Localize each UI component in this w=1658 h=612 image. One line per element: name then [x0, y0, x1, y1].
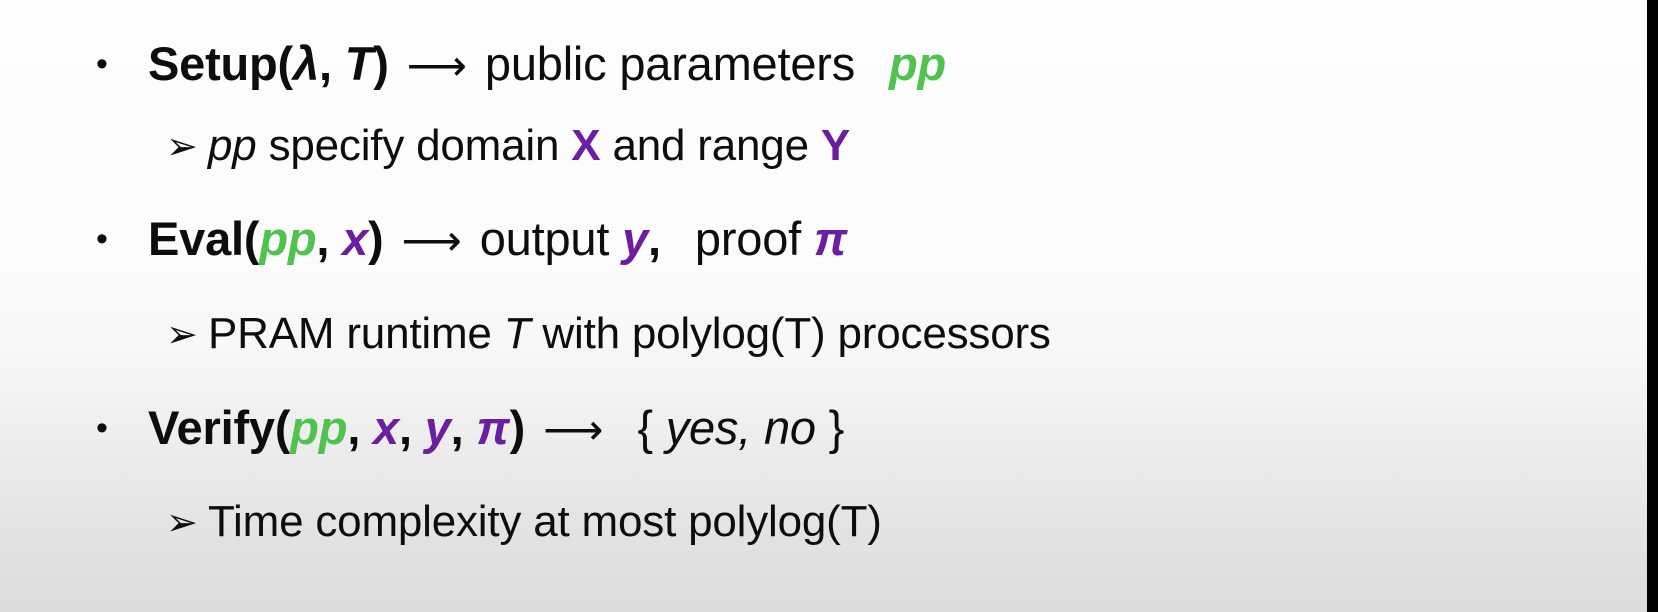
bullet-line-eval: •Eval(pp, x)⟶output y,proof π	[96, 215, 847, 262]
and-range-text: and range	[600, 121, 820, 170]
setup-close-paren: )	[373, 37, 388, 90]
pp-symbol: pp	[889, 37, 946, 90]
pp-symbol: pp	[208, 121, 257, 170]
arrow-icon: ⟶	[407, 41, 467, 90]
bullet-line-eval-body: Eval(pp, x)⟶output y,proof π	[148, 215, 847, 262]
X-symbol: X	[571, 121, 600, 170]
sub-bullet-line-pp-specify-body: pp specify domain X and range Y	[208, 124, 850, 168]
pi-symbol: π	[476, 401, 509, 454]
setup-comma: ,	[319, 37, 345, 90]
sub-bullet-arrow-icon: ➢	[166, 128, 208, 166]
y-symbol: y	[425, 401, 451, 454]
bullet-icon: •	[96, 222, 148, 256]
Y-symbol: Y	[821, 121, 850, 170]
x-symbol: x	[342, 212, 368, 265]
T-symbol: T	[504, 309, 531, 358]
time-complexity-text: Time complexity at most polylog(T)	[208, 497, 882, 546]
bullet-line-verify: •Verify(pp, x, y, π)⟶{ yes, no }	[96, 404, 844, 451]
eval-close-paren: )	[368, 212, 383, 265]
sub-bullet-arrow-icon: ➢	[166, 316, 208, 354]
right-edge-border	[1647, 0, 1658, 612]
proof-text: proof	[695, 212, 814, 265]
y-symbol: y	[622, 212, 648, 265]
verify-close-paren: )	[510, 401, 525, 454]
sub-bullet-line-pram: ➢PRAM runtime T with polylog(T) processo…	[166, 312, 1051, 356]
eval-comma-1: ,	[316, 212, 342, 265]
output-text: output	[480, 212, 622, 265]
pp-symbol: pp	[259, 212, 316, 265]
setup-label: Setup(	[148, 37, 293, 90]
sub-bullet-arrow-icon: ➢	[166, 504, 208, 542]
brace-open: {	[637, 401, 665, 454]
polylog-processors-text: with polylog(T) processors	[530, 309, 1050, 358]
pp-symbol: pp	[290, 401, 347, 454]
verify-comma-1: ,	[347, 401, 373, 454]
sub-bullet-line-time-complexity: ➢Time complexity at most polylog(T)	[166, 500, 882, 544]
arrow-icon: ⟶	[543, 405, 603, 454]
sub-bullet-line-pp-specify: ➢pp specify domain X and range Y	[166, 124, 850, 168]
lambda-symbol: λ	[293, 37, 319, 90]
bullet-line-setup: •Setup(λ, T)⟶public parameterspp	[96, 40, 946, 87]
arrow-icon: ⟶	[402, 216, 462, 265]
specify-domain-text: specify domain	[257, 121, 572, 170]
slide-canvas: •Setup(λ, T)⟶public parameterspp ➢pp spe…	[0, 0, 1658, 612]
bullet-icon: •	[96, 47, 148, 81]
pi-symbol: π	[814, 212, 847, 265]
eval-comma-2: ,	[648, 212, 661, 265]
verify-comma-3: ,	[451, 401, 477, 454]
bullet-icon: •	[96, 411, 148, 445]
sub-bullet-line-time-complexity-body: Time complexity at most polylog(T)	[208, 500, 882, 544]
yes-no-text: yes, no	[666, 401, 816, 454]
verify-label: Verify(	[148, 401, 290, 454]
public-parameters-text: public parameters	[485, 37, 855, 90]
T-symbol: T	[345, 37, 374, 90]
slide-content: •Setup(λ, T)⟶public parameterspp ➢pp spe…	[0, 0, 1647, 612]
x-symbol: x	[373, 401, 399, 454]
bullet-line-verify-body: Verify(pp, x, y, π)⟶{ yes, no }	[148, 404, 844, 451]
sub-bullet-line-pram-body: PRAM runtime T with polylog(T) processor…	[208, 312, 1051, 356]
eval-label: Eval(	[148, 212, 259, 265]
pram-runtime-text: PRAM runtime	[208, 309, 504, 358]
bullet-line-setup-body: Setup(λ, T)⟶public parameterspp	[148, 40, 946, 87]
verify-comma-2: ,	[399, 401, 425, 454]
brace-close: }	[816, 401, 844, 454]
